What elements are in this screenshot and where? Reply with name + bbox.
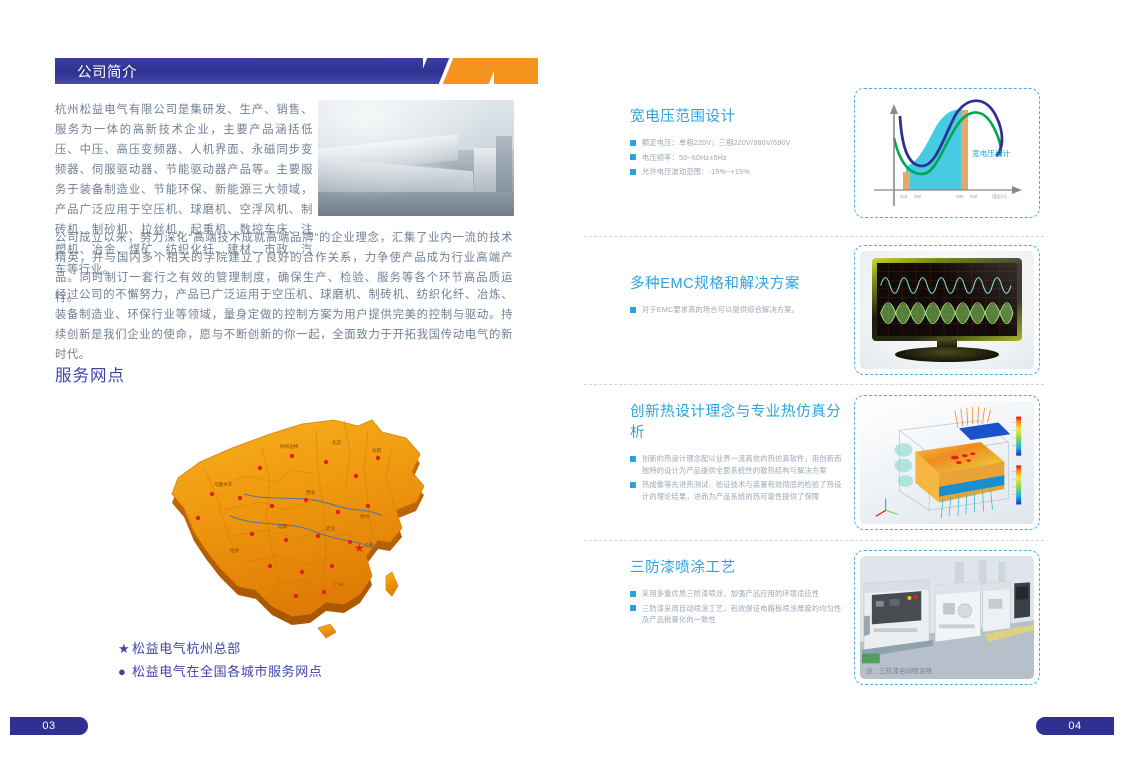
emc-monitor-card (854, 245, 1040, 375)
thermal-simulation-image (860, 401, 1034, 524)
thermal-colorbar-1 (1016, 417, 1021, 456)
axis-triad-icon (876, 499, 898, 517)
svg-text:西安: 西安 (306, 489, 316, 496)
svg-text:呼和浩特: 呼和浩特 (280, 443, 299, 450)
feature-conformal-coating: 三防漆喷涂工艺 采用多重优质三防漆喷涂，加强产品应用的环境适应性 三防漆采用自动… (630, 556, 845, 629)
svg-text:沈阳: 沈阳 (372, 447, 382, 454)
svg-text:成都: 成都 (278, 523, 288, 530)
chart-x-axis-arrow (1012, 186, 1022, 194)
feature-emc: 多种EMC规格和解决方案 对于EMC要求高的场合可以提供综合解决方案。 (630, 272, 845, 319)
feature-3-bullets: 创新的热设计理念配以业界一流高效的热仿真软件，用创新而独特的设计为产品提供全面系… (630, 453, 845, 502)
coating-line-card: 注：三防漆自动喷涂线 (854, 550, 1040, 685)
feature-wide-voltage: 宽电压范围设计 额定电压：单相220V；三相220V/380V/690V 电压频… (630, 105, 845, 181)
chart-shaded-area (906, 110, 964, 190)
thermal-background (860, 401, 1034, 524)
dot-icon: ● (118, 664, 132, 679)
list-item: 三防漆采用自动喷涂工艺，有效保证电路板喷涂厚度的均匀性及产品批量化的一致性 (630, 603, 845, 626)
coating-line-photo: 注：三防漆自动喷涂线 (860, 556, 1034, 679)
wide-voltage-chart-svg: 323 380 480 528 电压(V) 宽电压设计 (860, 94, 1034, 212)
feature-3-title: 创新热设计理念与专业热仿真分析 (630, 400, 845, 442)
list-item: 允许电压波动范围：-15%~+15% (630, 166, 845, 178)
left-page-title: 公司简介 (77, 61, 137, 82)
airflow-top-streams (955, 407, 991, 428)
coating-machine-4 (1014, 582, 1030, 618)
hainan-island (318, 624, 336, 638)
svg-text:广州: 广州 (334, 581, 344, 588)
feature-2-bullets: 对于EMC要求高的场合可以提供综合解决方案。 (630, 304, 845, 316)
section-divider-1 (584, 236, 1044, 237)
monitor-base (895, 347, 999, 362)
legend-service-points: ●松益电气在全国各城市服务网点 (118, 661, 322, 680)
svg-text:电压(V): 电压(V) (992, 193, 1007, 200)
left-page: 公司简介 杭州松益电气有限公司是集研发、生产、销售、服务为一体的高新技术企业，主… (0, 0, 562, 765)
chart-annotation: 宽电压设计 (972, 148, 1010, 158)
airflow-side-blobs (895, 443, 914, 487)
factory-photo (318, 100, 514, 216)
svg-text:拉萨: 拉萨 (230, 547, 240, 554)
legend-headquarters-label: 松益电气杭州总部 (132, 641, 241, 656)
coating-photo-background: 注：三防漆自动喷涂线 (860, 556, 1034, 679)
thermal-simulation-card (854, 395, 1040, 530)
thermal-svg (860, 401, 1034, 524)
section-divider-2 (584, 384, 1044, 385)
svg-text:380: 380 (914, 194, 922, 199)
company-intro-paragraph-3: 经过公司的不懈努力，产品已广泛运用于空压机、球磨机、制砖机、纺织化纤、冶炼、装备… (55, 285, 513, 365)
list-item: 采用多重优质三防漆喷涂，加强产品应用的环境适应性 (630, 588, 845, 600)
chart-y-axis-arrow (890, 104, 898, 114)
feature-4-title: 三防漆喷涂工艺 (630, 556, 845, 577)
list-item: 热成像等先进热测试、验证技术与装置有效彻底的检验了热设计的理论结果，进而为产品系… (630, 479, 845, 502)
feature-thermal-design: 创新热设计理念与专业热仿真分析 创新的热设计理念配以业界一流高效的热仿真软件，用… (630, 400, 845, 505)
monitor-bezel (872, 258, 1022, 341)
svg-text:480: 480 (956, 194, 964, 199)
left-banner-orange-slash (443, 58, 500, 84)
section-divider-3 (584, 540, 1044, 541)
page-number-right: 04 (1036, 717, 1114, 735)
svg-text:武汉: 武汉 (326, 525, 336, 532)
svg-text:上海: 上海 (364, 541, 374, 548)
left-page-banner: 公司简介 (55, 58, 538, 84)
envelope-trace-bottom (881, 303, 1013, 324)
chart-tick-labels: 323 380 480 528 电压(V) (900, 193, 1007, 200)
photo-glare-overlay (318, 100, 514, 216)
china-map-svg: ★ 北京 呼和浩特 乌鲁木齐 拉萨 成都 西安 武汉 上海 广州 沈阳 杭州 (120, 390, 500, 705)
svg-text:杭州: 杭州 (360, 513, 370, 520)
svg-text:528: 528 (970, 194, 978, 199)
list-item: 电压频率：50~60Hz±5Hz (630, 152, 845, 164)
svg-text:乌鲁木齐: 乌鲁木齐 (214, 481, 233, 488)
emc-waveform-monitor-image (860, 251, 1034, 369)
thermal-cool-panel (959, 422, 1010, 440)
coating-machine-3 (983, 581, 1011, 632)
feature-4-bullets: 采用多重优质三防漆喷涂，加强产品应用的环境适应性 三防漆采用自动喷涂工艺，有效保… (630, 588, 845, 626)
brochure-spread: 公司简介 杭州松益电气有限公司是集研发、生产、销售、服务为一体的高新技术企业，主… (0, 0, 1124, 765)
left-banner-blue: 公司简介 (55, 58, 423, 84)
thermal-colorbar-2 (1016, 465, 1021, 504)
coating-machine-2 (935, 581, 980, 642)
feature-2-title: 多种EMC规格和解决方案 (630, 272, 845, 293)
page-number-left: 03 (10, 717, 88, 735)
svg-text:323: 323 (900, 194, 908, 199)
monitor-screen (877, 263, 1017, 336)
legend-headquarters: ★松益电气杭州总部 (118, 638, 241, 657)
star-icon: ★ (118, 641, 132, 657)
screen-grid (877, 263, 1017, 336)
sine-trace-top (881, 278, 1011, 294)
list-item: 对于EMC要求高的场合可以提供综合解决方案。 (630, 304, 845, 316)
list-item: 额定电压：单相220V；三相220V/380V/690V (630, 137, 845, 149)
service-network-title: 服务网点 (55, 362, 125, 386)
coating-photo-caption: 注：三防漆自动喷涂线 (866, 666, 932, 675)
monitor-background (860, 251, 1034, 369)
wide-voltage-chart-card: 323 380 480 528 电压(V) 宽电压设计 (854, 88, 1040, 218)
wide-voltage-chart: 323 380 480 528 电压(V) 宽电压设计 (860, 94, 1034, 212)
feature-1-title: 宽电压范围设计 (630, 105, 845, 126)
green-bins (862, 654, 880, 664)
legend-service-points-label: 松益电气在全国各城市服务网点 (132, 664, 322, 679)
list-item: 创新的热设计理念配以业界一流高效的热仿真软件，用创新而独特的设计为产品提供全面系… (630, 453, 845, 476)
coating-photo-svg (860, 556, 1034, 679)
china-service-map: ★ 北京 呼和浩特 乌鲁木齐 拉萨 成都 西安 武汉 上海 广州 沈阳 杭州 (120, 390, 500, 705)
chart-limit-marker-high (961, 110, 968, 190)
svg-text:北京: 北京 (332, 439, 342, 446)
taiwan-island (386, 572, 398, 596)
right-page: 产品优势——高可靠性 宽电压范围设计 额定电压：单相220V；三相220V/38… (562, 0, 1124, 765)
waveform-svg (877, 263, 1017, 336)
colorbar-ticks (1012, 422, 1016, 494)
chart-limit-marker-low (903, 172, 910, 190)
left-banner-orange-tail (494, 58, 538, 84)
feature-1-bullets: 额定电压：单相220V；三相220V/380V/690V 电压频率：50~60H… (630, 137, 845, 178)
map-landmass (172, 420, 424, 638)
